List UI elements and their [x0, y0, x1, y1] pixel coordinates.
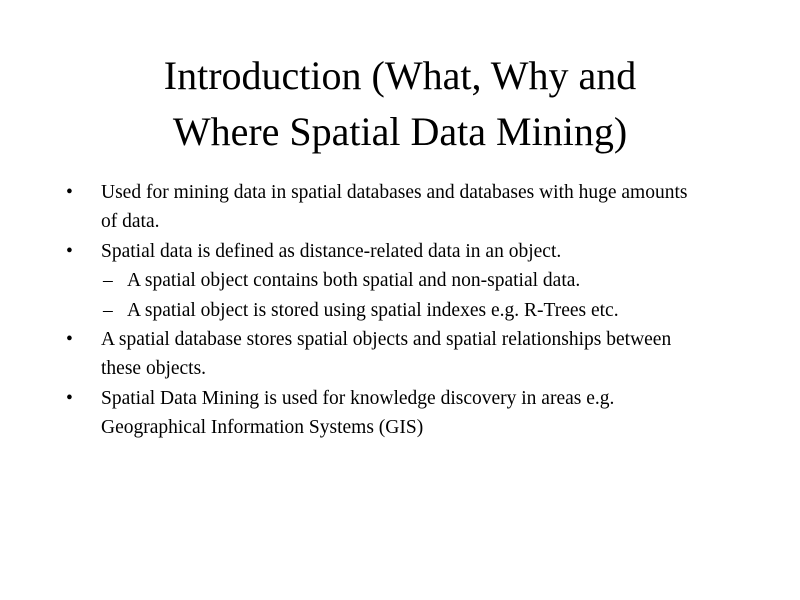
list-item: – A spatial object contains both spatial… [60, 266, 708, 295]
page-title-line-2: Where Spatial Data Mining) [60, 104, 740, 160]
list-item-text: Spatial data is defined as distance-rela… [101, 237, 708, 266]
list-item-text: A spatial object contains both spatial a… [127, 266, 708, 295]
bullet-marker-level-1: • [66, 178, 86, 207]
list-item: • Spatial data is defined as distance-re… [60, 237, 708, 266]
list-item-text: A spatial database stores spatial object… [101, 325, 708, 384]
list-item: • Used for mining data in spatial databa… [60, 178, 708, 237]
list-item-text: A spatial object is stored using spatial… [127, 296, 708, 325]
list-item: • Spatial Data Mining is used for knowle… [60, 384, 708, 443]
page-title-line-1: Introduction (What, Why and [60, 48, 740, 104]
bullet-marker-level-2: – [103, 296, 125, 325]
list-item-text: Used for mining data in spatial database… [101, 178, 708, 237]
bullet-marker-level-1: • [66, 237, 86, 266]
page-title: Introduction (What, Why and Where Spatia… [60, 48, 740, 160]
bullet-marker-level-2: – [103, 266, 125, 295]
slide-canvas: Introduction (What, Why and Where Spatia… [0, 0, 800, 600]
bullet-marker-level-1: • [66, 325, 86, 354]
list-item: – A spatial object is stored using spati… [60, 296, 708, 325]
list-item: • A spatial database stores spatial obje… [60, 325, 708, 384]
bullet-marker-level-1: • [66, 384, 86, 413]
list-item-text: Spatial Data Mining is used for knowledg… [101, 384, 708, 443]
bullet-list: • Used for mining data in spatial databa… [60, 178, 708, 443]
